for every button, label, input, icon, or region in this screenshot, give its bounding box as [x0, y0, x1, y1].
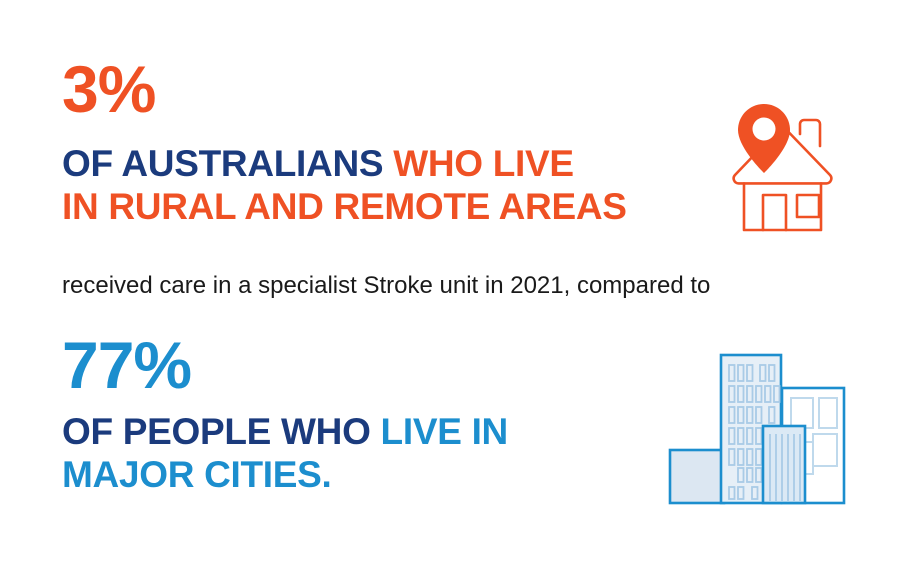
headline-one-segment-australians: OF AUSTRALIANS — [62, 143, 393, 184]
location-pin-hole — [753, 118, 776, 141]
body-text: received care in a specialist Stroke uni… — [62, 270, 710, 301]
building-left-block — [670, 450, 724, 503]
statistic-one-number: 3% — [62, 56, 155, 122]
house-door — [763, 195, 786, 230]
statistic-two-group: 77% — [62, 332, 191, 398]
text-column: 3% OF AUSTRALIANS WHO LIVE IN RURAL AND … — [62, 0, 762, 570]
headline-two-line-2: MAJOR CITIES. — [62, 454, 508, 497]
statistic-two-number: 77% — [62, 332, 191, 398]
city-icon-svg — [664, 338, 859, 510]
headline-one-line-2: IN RURAL AND REMOTE AREAS — [62, 186, 627, 229]
headline-two-line-1: OF PEOPLE WHO LIVE IN — [62, 411, 508, 454]
house-body — [744, 183, 821, 230]
body-text-group: received care in a specialist Stroke uni… — [62, 270, 710, 301]
city-buildings-icon — [664, 338, 859, 510]
headline-one-segment-who-live: WHO LIVE — [393, 143, 574, 184]
statistic-one-group: 3% — [62, 56, 155, 122]
headline-one-line-1: OF AUSTRALIANS WHO LIVE — [62, 143, 627, 186]
building-striped-tower — [763, 426, 805, 503]
house-chimney — [800, 120, 820, 146]
statistic-one-headline: OF AUSTRALIANS WHO LIVE IN RURAL AND REM… — [62, 143, 627, 229]
house-with-location-pin-icon — [722, 96, 857, 236]
house-window — [797, 195, 819, 217]
headline-two-segment-people-who: OF PEOPLE WHO — [62, 411, 381, 452]
house-icon-svg — [722, 96, 857, 236]
infographic-canvas: 3% OF AUSTRALIANS WHO LIVE IN RURAL AND … — [0, 0, 900, 570]
statistic-two-headline: OF PEOPLE WHO LIVE IN MAJOR CITIES. — [62, 411, 508, 497]
headline-two-segment-live-in: LIVE IN — [381, 411, 508, 452]
